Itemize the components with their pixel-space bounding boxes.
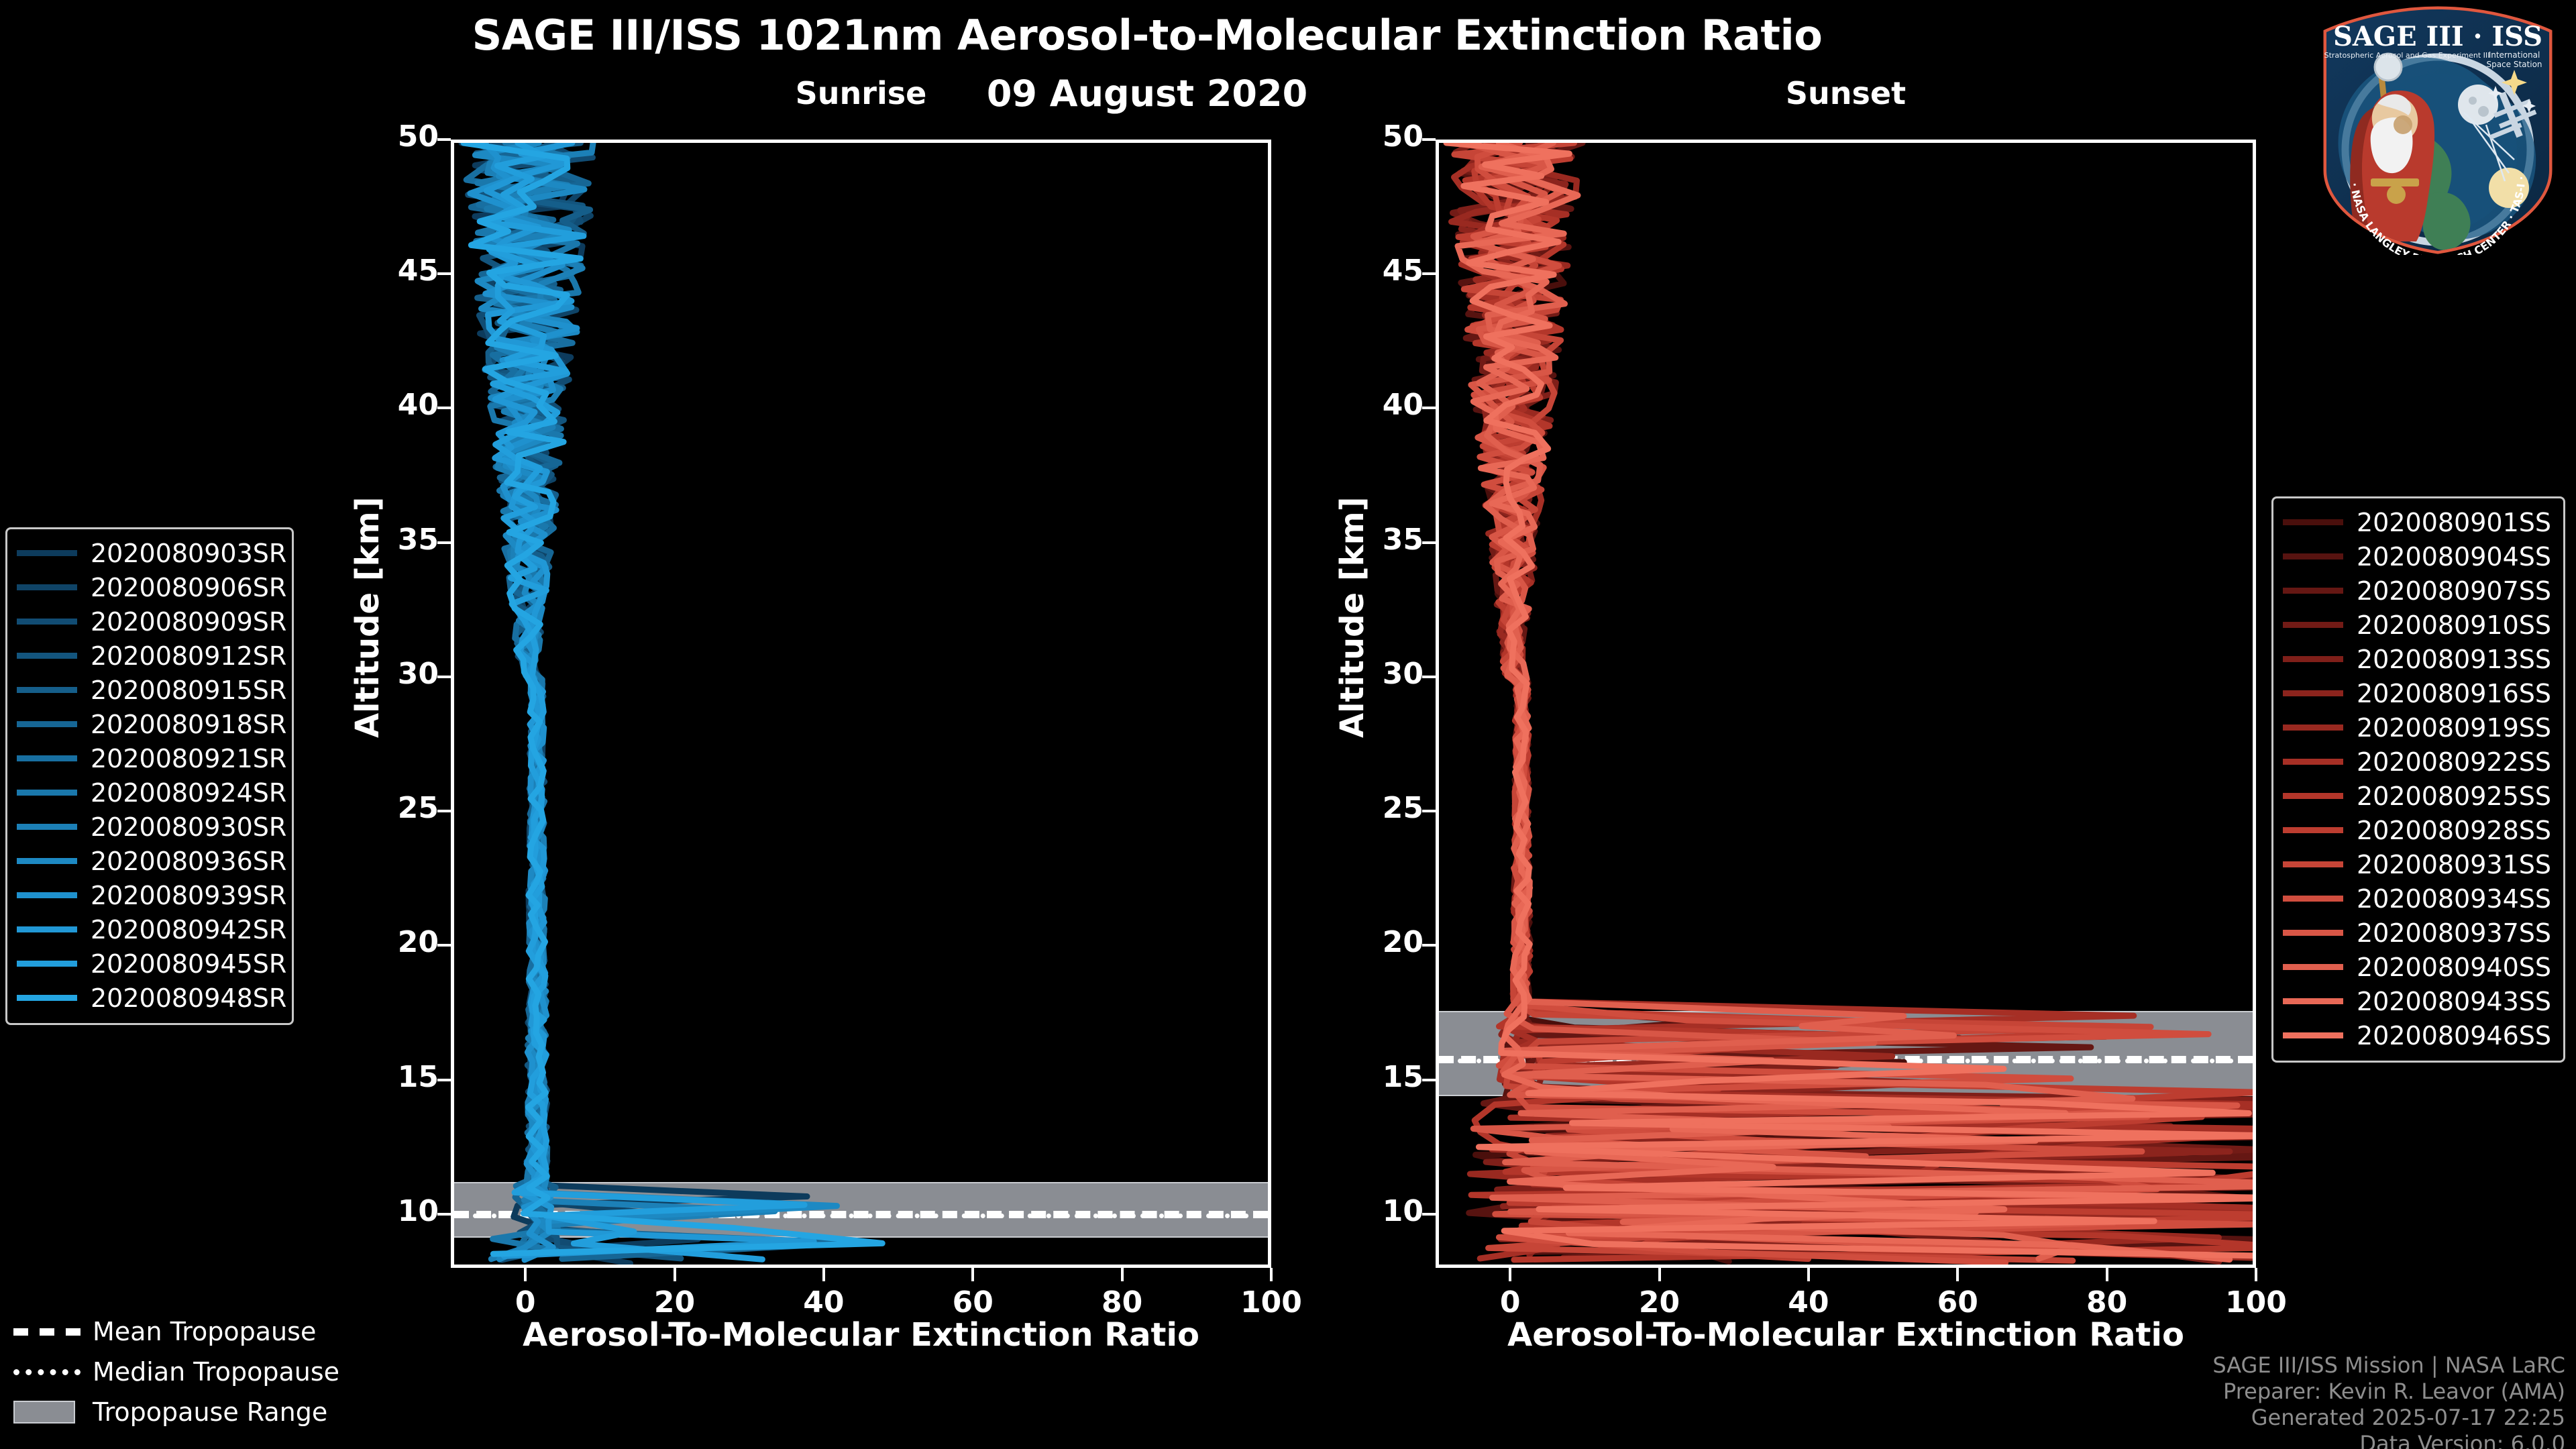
sunrise-ytick-mark-50 [437,138,451,141]
credits-block: SAGE III/ISS Mission | NASA LaRC Prepare… [2212,1352,2565,1449]
sunrise-ytick-mark-25 [437,810,451,812]
credits-line-preparer: Preparer: Kevin R. Leavor (AMA) [2212,1379,2565,1405]
sunrise-xtick-mark-100 [1270,1268,1273,1281]
legend-item-label: 2020080937SS [2357,918,2551,948]
sunset-xtick-mark-0 [1509,1268,1511,1281]
legend-item-label: 2020080940SS [2357,953,2551,982]
legend-item-sunset[interactable]: 2020080928SS [2283,813,2554,847]
sunrise-ytick-mark-10 [437,1213,451,1216]
legend-item-sunset[interactable]: 2020080934SS [2283,881,2554,916]
legend-item-sunset[interactable]: 2020080943SS [2283,984,2554,1018]
legend-color-swatch [17,892,77,898]
legend-color-swatch [2283,759,2343,765]
sunrise-xtick-0: 0 [478,1285,572,1320]
legend-item-label: 2020080904SS [2357,542,2551,572]
sunrise-xtick-mark-0 [524,1268,527,1281]
legend-color-swatch [17,687,77,693]
sunset-xtick-mark-20 [1658,1268,1661,1281]
sunrise-y-axis-label: Altitude [km] [349,496,386,738]
legend-item-label: 2020080948SR [91,983,286,1013]
legend-color-swatch [17,961,77,967]
legend-color-swatch [2283,896,2343,902]
legend-item-sunset[interactable]: 2020080907SS [2283,574,2554,608]
sunrise-ytick-mark-20 [437,944,451,947]
legend-color-swatch [2283,588,2343,594]
sunset-xtick-mark-80 [2106,1268,2108,1281]
sunset-y-axis-label: Altitude [km] [1334,496,1371,738]
legend-item-sunrise[interactable]: 2020080942SR [17,912,282,947]
legend-item-sunset[interactable]: 2020080940SS [2283,950,2554,984]
legend-item-label: 2020080945SR [91,949,286,979]
figure-root: SAGE III/ISS 1021nm Aerosol-to-Molecular… [0,0,2576,1449]
legend-item-label: 2020080909SR [91,607,286,637]
median-tropopause-label: Median Tropopause [93,1357,339,1387]
legend-item-sunrise[interactable]: 2020080945SR [17,947,282,981]
legend-item-sunrise[interactable]: 2020080912SR [17,639,282,673]
legend-color-swatch [2283,690,2343,696]
patch-title: SAGE III · ISS [2333,21,2542,52]
sunset-ytick-mark-10 [1422,1213,1436,1216]
patch-subtitle-left: Stratospheric Aerosol and Gas Experiment… [2324,51,2490,60]
legend-item-label: 2020080942SR [91,915,286,945]
sage-iii-iss-mission-patch-icon: SAGE III · ISS Stratospheric Aerosol and… [2313,5,2563,255]
legend-item-label: 2020080913SS [2357,645,2551,674]
mean-tropopause-label: Mean Tropopause [93,1317,316,1346]
legend-color-swatch [17,721,77,727]
sunrise-x-axis-label: Aerosol-To-Molecular Extinction Ratio [451,1316,1271,1354]
legend-item-label: 2020080931SS [2357,850,2551,879]
legend-item-sunrise[interactable]: 2020080906SR [17,570,282,604]
sunset-ytick-45: 45 [1336,254,1424,288]
sunrise-plot-area [451,140,1271,1268]
sunrise-xtick-mark-40 [822,1268,825,1281]
sunset-xtick-40: 40 [1762,1285,1856,1320]
sunrise-ytick-50: 50 [352,119,439,154]
legend-item-label: 2020080918SR [91,710,286,739]
sunrise-ytick-15: 15 [352,1060,439,1094]
sunrise-xtick-mark-20 [674,1268,676,1281]
sunrise-ytick-mark-15 [437,1079,451,1081]
legend-color-swatch [2283,553,2343,559]
sunrise-ytick-25: 25 [352,791,439,825]
legend-item-sunset[interactable]: 2020080946SS [2283,1018,2554,1053]
sunrise-xtick-40: 40 [777,1285,871,1320]
legend-item-label: 2020080922SS [2357,747,2551,777]
sunset-ytick-20: 20 [1336,925,1424,959]
legend-item-sunset[interactable]: 2020080922SS [2283,745,2554,779]
sunset-ytick-mark-35 [1422,541,1436,544]
legend-item-sunset[interactable]: 2020080925SS [2283,779,2554,813]
mean-tropopause-icon [13,1328,80,1336]
legend-color-swatch [2283,724,2343,731]
sunset-ytick-mark-40 [1422,407,1436,409]
legend-item-median-tropopause: Median Tropopause [13,1352,362,1392]
legend-color-swatch [2283,861,2343,867]
sunset-xtick-20: 20 [1613,1285,1707,1320]
credits-line-version: Data Version: 6.0.0 [2212,1431,2565,1449]
sunrise-ytick-mark-45 [437,272,451,275]
legend-item-sunset[interactable]: 2020080901SS [2283,505,2554,539]
legend-item-label: 2020080910SS [2357,610,2551,640]
sunset-xtick-0: 0 [1463,1285,1557,1320]
legend-color-swatch [2283,656,2343,662]
sunrise-ytick-10: 10 [352,1194,439,1228]
legend-color-swatch [2283,1032,2343,1038]
page-title: SAGE III/ISS 1021nm Aerosol-to-Molecular… [0,11,2294,60]
legend-item-label: 2020080919SS [2357,713,2551,743]
legend-color-swatch [2283,964,2343,970]
sunrise-ytick-20: 20 [352,925,439,959]
sunset-ytick-mark-45 [1422,272,1436,275]
legend-item-label: 2020080936SR [91,847,286,876]
credits-line-generated: Generated 2025-07-17 22:25 [2212,1405,2565,1431]
legend-item-sunset[interactable]: 2020080904SS [2283,539,2554,574]
legend-item-label: 2020080946SS [2357,1021,2551,1051]
sunset-xtick-100: 100 [2209,1285,2303,1320]
sunrise-xtick-mark-60 [971,1268,974,1281]
credits-line-mission: SAGE III/ISS Mission | NASA LaRC [2212,1352,2565,1379]
legend-item-label: 2020080903SR [91,539,286,568]
legend-item-sunset[interactable]: 2020080913SS [2283,642,2554,676]
sunset-ytick-50: 50 [1336,119,1424,154]
legend-item-label: 2020080916SS [2357,679,2551,708]
legend-color-swatch [2283,793,2343,799]
legend-color-swatch [17,858,77,864]
sunset-xtick-mark-100 [2255,1268,2257,1281]
legend-item-sunrise[interactable]: 2020080903SR [17,536,282,570]
tropopause-range-label: Tropopause Range [93,1397,327,1427]
legend-item-label: 2020080907SS [2357,576,2551,606]
sunrise-series-curves [454,143,1268,1265]
legend-color-swatch [17,755,77,761]
sunrise-ytick-mark-30 [437,676,451,678]
legend-item-label: 2020080906SR [91,573,286,602]
sunrise-xtick-60: 60 [926,1285,1020,1320]
tropopause-range-icon [13,1401,80,1424]
legend-item-label: 2020080925SS [2357,782,2551,811]
legend-item-label: 2020080930SR [91,812,286,842]
sunset-panel-title: Sunset [1436,75,2256,111]
sunset-ytick-mark-20 [1422,944,1436,947]
patch-subtitle-right-1: International [2489,50,2540,60]
legend-item-label: 2020080921SR [91,744,286,773]
sunrise-xtick-mark-80 [1121,1268,1124,1281]
legend-item-label: 2020080901SS [2357,508,2551,537]
legend-item-label: 2020080924SR [91,778,286,808]
sunset-ytick-mark-30 [1422,676,1436,678]
sunset-xtick-mark-40 [1807,1268,1810,1281]
legend-item-sunset[interactable]: 2020080910SS [2283,608,2554,642]
legend-item-label: 2020080939SR [91,881,286,910]
sunrise-panel-title: Sunrise [451,75,1271,111]
sunset-series-curves [1439,143,2253,1265]
patch-subtitle-right-2: Space Station [2486,60,2542,69]
sunrise-ytick-45: 45 [352,254,439,288]
legend-item-label: 2020080934SS [2357,884,2551,914]
tropopause-legend: Mean Tropopause Median Tropopause Tropop… [13,1311,362,1432]
median-tropopause-icon [13,1369,80,1375]
legend-item-label: 2020080912SR [91,641,286,671]
legend-item-sunrise[interactable]: 2020080936SR [17,844,282,878]
legend-color-swatch [17,584,77,590]
legend-color-swatch [17,550,77,556]
sunset-ytick-10: 10 [1336,1194,1424,1228]
legend-item-sunrise[interactable]: 2020080921SR [17,741,282,775]
legend-item-sunrise[interactable]: 2020080939SR [17,878,282,912]
legend-item-label: 2020080928SS [2357,816,2551,845]
legend-color-swatch [2283,622,2343,628]
legend-item-tropopause-range: Tropopause Range [13,1392,362,1432]
legend-item-sunset[interactable]: 2020080931SS [2283,847,2554,881]
legend-item-label: 2020080915SR [91,676,286,705]
legend-color-swatch [17,824,77,830]
legend-color-swatch [17,653,77,659]
legend-color-swatch [17,619,77,625]
legend-item-sunset[interactable]: 2020080916SS [2283,676,2554,710]
legend-color-swatch [2283,827,2343,833]
legend-item-sunrise[interactable]: 2020080915SR [17,673,282,707]
sunrise-ytick-mark-40 [437,407,451,409]
sunrise-legend[interactable]: 2020080903SR2020080906SR2020080909SR2020… [5,527,294,1025]
sunrise-xtick-20: 20 [628,1285,722,1320]
sunset-x-axis-label: Aerosol-To-Molecular Extinction Ratio [1436,1316,2256,1354]
sunset-plot-area [1436,140,2256,1268]
sunset-xtick-60: 60 [1911,1285,2004,1320]
sunset-xtick-80: 80 [2060,1285,2154,1320]
sunset-ytick-mark-50 [1422,138,1436,141]
legend-item-sunset[interactable]: 2020080937SS [2283,916,2554,950]
legend-item-label: 2020080943SS [2357,987,2551,1016]
legend-item-sunrise[interactable]: 2020080930SR [17,810,282,844]
legend-color-swatch [2283,930,2343,936]
legend-color-swatch [17,926,77,932]
legend-item-sunrise[interactable]: 2020080924SR [17,775,282,810]
sunrise-xtick-100: 100 [1224,1285,1318,1320]
sunset-ytick-15: 15 [1336,1060,1424,1094]
legend-color-swatch [17,790,77,796]
sunrise-ytick-mark-35 [437,541,451,544]
legend-color-swatch [2283,998,2343,1004]
sunset-ytick-mark-15 [1422,1079,1436,1081]
legend-item-sunset[interactable]: 2020080919SS [2283,710,2554,745]
legend-item-sunrise[interactable]: 2020080948SR [17,981,282,1015]
sunset-xtick-mark-60 [1956,1268,1959,1281]
legend-item-sunrise[interactable]: 2020080918SR [17,707,282,741]
sunset-ytick-mark-25 [1422,810,1436,812]
sunrise-xtick-80: 80 [1075,1285,1169,1320]
sunset-legend[interactable]: 2020080901SS2020080904SS2020080907SS2020… [2271,496,2565,1063]
legend-item-sunrise[interactable]: 2020080909SR [17,604,282,639]
sunset-ytick-25: 25 [1336,791,1424,825]
sunset-ytick-40: 40 [1336,388,1424,422]
legend-color-swatch [17,995,77,1001]
legend-color-swatch [2283,519,2343,525]
sunrise-ytick-40: 40 [352,388,439,422]
legend-item-mean-tropopause: Mean Tropopause [13,1311,362,1352]
